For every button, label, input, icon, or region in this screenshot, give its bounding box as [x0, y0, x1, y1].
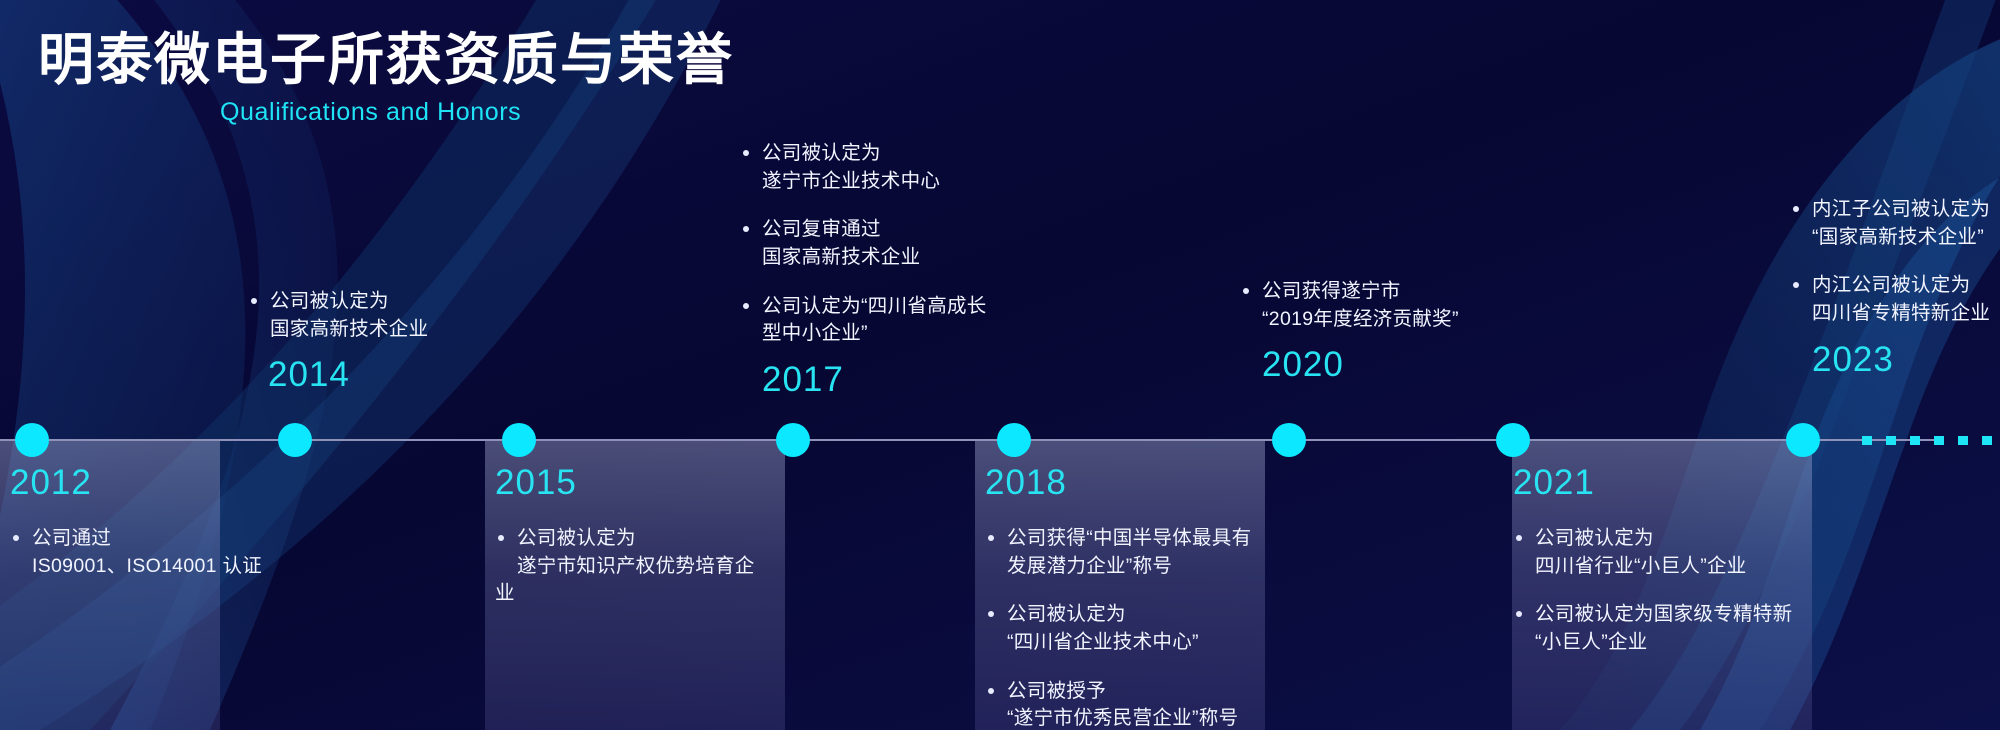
bullet-line: 公司被认定为	[517, 525, 755, 553]
timeline-node-2020[interactable]	[1272, 423, 1306, 457]
bullet-list-2015: 公司被认定为 遂宁市知识产权优势培育企 业	[495, 525, 755, 608]
list-item: 公司获得“中国半导体最具有 发展潜力企业”称号	[985, 525, 1251, 580]
year-label-2018: 2018	[985, 465, 1251, 500]
timeline-entry-2021: 2021 公司被认定为 四川省行业“小巨人”企业 公司被认定为国家级专精特新 “…	[1513, 465, 1792, 657]
bullet-line: “四川省企业技术中心”	[1007, 629, 1251, 657]
bullet-dot-icon	[498, 535, 504, 541]
timeline-node-2012[interactable]	[15, 423, 49, 457]
timeline-entry-2014: 公司被认定为 国家高新技术企业 2014	[248, 288, 428, 392]
list-item: 公司认定为“四川省高成长 型中小企业”	[740, 293, 987, 348]
list-item: 公司被认定为 国家高新技术企业	[248, 288, 428, 343]
bullet-list-2023: 内江子公司被认定为 “国家高新技术企业” 内江公司被认定为 四川省专精特新企业	[1790, 196, 1990, 328]
bullet-line: 公司认定为“四川省高成长	[762, 293, 987, 321]
axis-dash-5	[1958, 436, 1968, 445]
bullet-dot-icon	[988, 688, 994, 694]
axis-dash-2	[1886, 436, 1896, 445]
timeline-entry-2012: 2012 公司通过 IS09001、ISO14001 认证	[10, 465, 262, 580]
page-title: 明泰微电子所获资质与荣誉	[38, 28, 734, 92]
timeline-node-2021[interactable]	[1496, 423, 1530, 457]
bullet-line: 四川省行业“小巨人”企业	[1535, 553, 1792, 581]
bullet-dot-icon	[1516, 535, 1522, 541]
bullet-line: IS09001、ISO14001 认证	[32, 553, 262, 581]
bullet-line: 公司被认定为	[1535, 525, 1792, 553]
timeline-entry-2015: 2015 公司被认定为 遂宁市知识产权优势培育企 业	[495, 465, 755, 608]
bullet-dot-icon	[1793, 282, 1799, 288]
bullet-line: 国家高新技术企业	[270, 316, 428, 344]
bullet-dot-icon	[988, 535, 994, 541]
axis-dash-6	[1982, 436, 1992, 445]
bullet-dot-icon	[988, 611, 994, 617]
bullet-line: 公司通过	[32, 525, 262, 553]
list-item: 公司被授予 “遂宁市优秀民营企业”称号	[985, 678, 1251, 730]
bullet-line: 四川省专精特新企业	[1812, 300, 1990, 328]
bullet-dot-icon	[1516, 611, 1522, 617]
bullet-line: 公司获得“中国半导体最具有	[1007, 525, 1251, 553]
list-item: 内江公司被认定为 四川省专精特新企业	[1790, 272, 1990, 327]
bullet-line: “国家高新技术企业”	[1812, 224, 1990, 252]
timeline-node-2015[interactable]	[502, 423, 536, 457]
bullet-line: “遂宁市优秀民营企业”称号	[1007, 705, 1251, 730]
list-item: 公司被认定为 遂宁市企业技术中心	[740, 140, 987, 195]
bullet-list-2017: 公司被认定为 遂宁市企业技术中心 公司复审通过 国家高新技术企业 公司认定为“四…	[740, 140, 987, 348]
bullet-line: 公司被认定为	[270, 288, 428, 316]
year-label-2023: 2023	[1812, 342, 1990, 377]
axis-dash-1	[1862, 436, 1872, 445]
year-label-2017: 2017	[762, 362, 987, 397]
list-item: 公司被认定为国家级专精特新 “小巨人”企业	[1513, 601, 1792, 656]
axis-dash-4	[1934, 436, 1944, 445]
list-item: 公司被认定为 “四川省企业技术中心”	[985, 601, 1251, 656]
bullet-dot-icon	[13, 535, 19, 541]
bullet-dot-icon	[251, 298, 257, 304]
timeline-node-2018[interactable]	[997, 423, 1031, 457]
list-item: 公司被认定为 遂宁市知识产权优势培育企 业	[495, 525, 755, 608]
axis-dash-3	[1910, 436, 1920, 445]
bullet-dot-icon	[743, 303, 749, 309]
bullet-line: 公司获得遂宁市	[1262, 278, 1459, 306]
bullet-list-2012: 公司通过 IS09001、ISO14001 认证	[10, 525, 262, 580]
bullet-list-2020: 公司获得遂宁市 “2019年度经济贡献奖”	[1240, 278, 1459, 333]
bullet-line: 发展潜力企业”称号	[1007, 553, 1251, 581]
list-item: 公司通过 IS09001、ISO14001 认证	[10, 525, 262, 580]
bullet-line: 公司复审通过	[762, 216, 987, 244]
bullet-line: 型中小企业”	[762, 320, 987, 348]
bullet-list-2018: 公司获得“中国半导体最具有 发展潜力企业”称号 公司被认定为 “四川省企业技术中…	[985, 525, 1251, 730]
list-item: 公司复审通过 国家高新技术企业	[740, 216, 987, 271]
bullet-list-2014: 公司被认定为 国家高新技术企业	[248, 288, 428, 343]
bullet-line: 内江子公司被认定为	[1812, 196, 1990, 224]
bullet-line: 公司被授予	[1007, 678, 1251, 706]
timeline-entry-2023: 内江子公司被认定为 “国家高新技术企业” 内江公司被认定为 四川省专精特新企业 …	[1790, 196, 1990, 377]
bullet-line: “小巨人”企业	[1535, 629, 1792, 657]
bullet-line: 遂宁市企业技术中心	[762, 168, 987, 196]
header: 明泰微电子所获资质与荣誉 Qualifications and Honors	[38, 28, 734, 127]
bullet-dot-icon	[1243, 288, 1249, 294]
year-label-2012: 2012	[10, 465, 262, 500]
bullet-dot-icon	[743, 150, 749, 156]
year-label-2015: 2015	[495, 465, 755, 500]
bullet-line: 公司被认定为	[1007, 601, 1251, 629]
timeline-node-2017[interactable]	[776, 423, 810, 457]
bullet-line: 业	[495, 580, 755, 608]
bullet-line: 公司被认定为国家级专精特新	[1535, 601, 1792, 629]
bullet-line: 内江公司被认定为	[1812, 272, 1990, 300]
year-label-2020: 2020	[1262, 347, 1459, 382]
bullet-line: 国家高新技术企业	[762, 244, 987, 272]
timeline-node-2014[interactable]	[278, 423, 312, 457]
bullet-line: “2019年度经济贡献奖”	[1262, 306, 1459, 334]
bullet-line: 遂宁市知识产权优势培育企	[517, 553, 755, 581]
bullet-line: 公司被认定为	[762, 140, 987, 168]
list-item: 公司获得遂宁市 “2019年度经济贡献奖”	[1240, 278, 1459, 333]
page-subtitle: Qualifications and Honors	[220, 98, 734, 127]
list-item: 内江子公司被认定为 “国家高新技术企业”	[1790, 196, 1990, 251]
bullet-dot-icon	[743, 226, 749, 232]
timeline-entry-2017: 公司被认定为 遂宁市企业技术中心 公司复审通过 国家高新技术企业 公司认定为“四…	[740, 140, 987, 397]
slide-canvas: 明泰微电子所获资质与荣誉 Qualifications and Honors 2…	[0, 0, 2000, 730]
year-label-2021: 2021	[1513, 465, 1792, 500]
bullet-list-2021: 公司被认定为 四川省行业“小巨人”企业 公司被认定为国家级专精特新 “小巨人”企…	[1513, 525, 1792, 657]
list-item: 公司被认定为 四川省行业“小巨人”企业	[1513, 525, 1792, 580]
bullet-dot-icon	[1793, 206, 1799, 212]
timeline-node-2023[interactable]	[1786, 423, 1820, 457]
timeline-entry-2020: 公司获得遂宁市 “2019年度经济贡献奖” 2020	[1240, 278, 1459, 382]
timeline-entry-2018: 2018 公司获得“中国半导体最具有 发展潜力企业”称号 公司被认定为 “四川省…	[985, 465, 1251, 730]
year-label-2014: 2014	[268, 357, 428, 392]
